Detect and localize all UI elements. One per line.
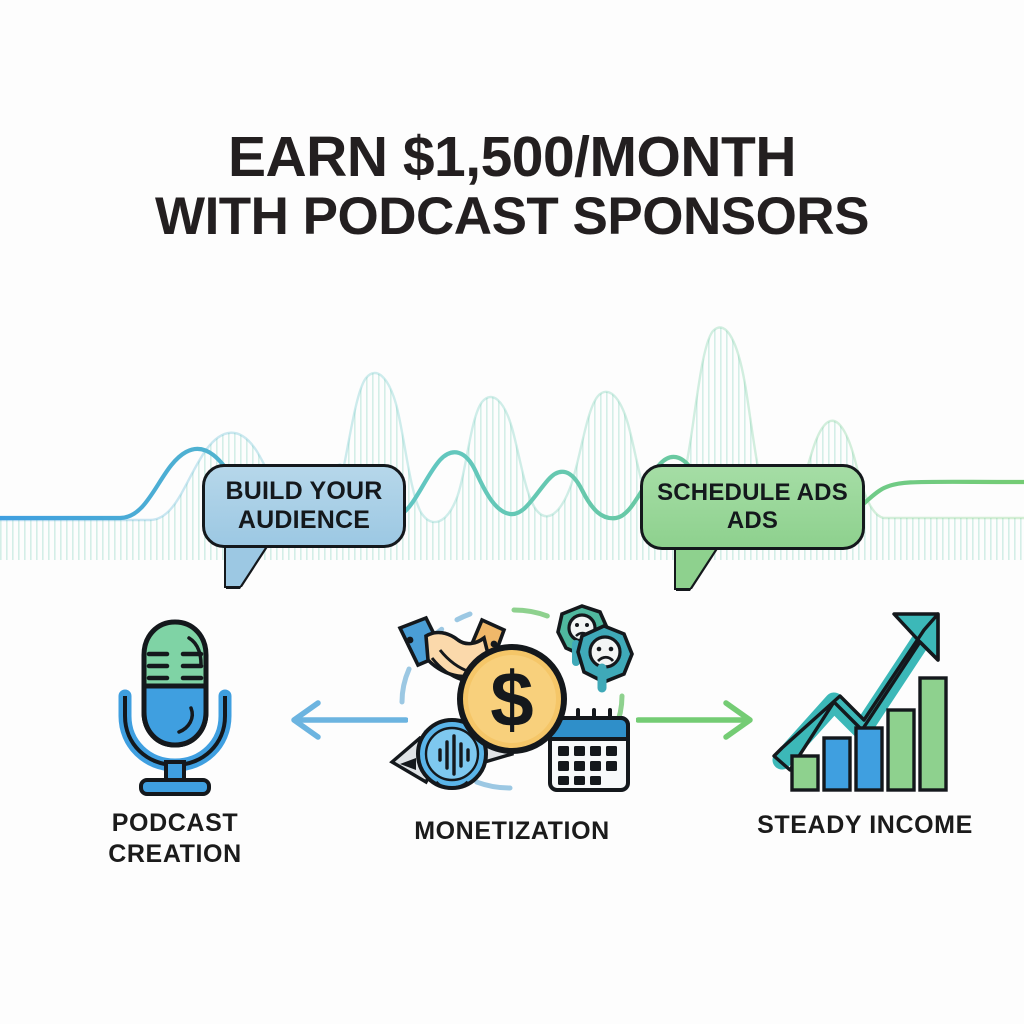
bar-2 — [824, 738, 850, 790]
bubble-audience-line-1: BUILD YOUR — [225, 477, 382, 507]
audience-bubble-tail — [226, 546, 266, 586]
bubble-audience-line-2: AUDIENCE — [238, 506, 370, 536]
monetization-label-line-1: MONETIZATION — [414, 816, 610, 847]
node-steady-income[interactable]: STEADY INCOME — [740, 600, 990, 841]
bar-5 — [920, 678, 946, 790]
steady-income-label-line-1: STEADY INCOME — [757, 810, 973, 841]
audio-waveform-background — [0, 300, 1024, 560]
waveform-svg — [0, 300, 1024, 560]
ads-bubble-tail — [676, 548, 716, 588]
bar-3 — [856, 728, 882, 790]
title-line-1: EARN $1,500/MONTH — [0, 128, 1024, 186]
bar-1 — [792, 756, 818, 790]
bubble-schedule-ads[interactable]: SCHEDULE ADS ADS — [640, 464, 865, 550]
bubble-build-your-audience[interactable]: BUILD YOUR AUDIENCE — [202, 464, 406, 548]
bubble-ads-line-1: SCHEDULE ADS — [657, 479, 848, 507]
title-line-2: WITH PODCAST SPONSORS — [0, 190, 1024, 244]
node-podcast-creation-label: PODCAST CREATION — [108, 808, 242, 869]
audience-people-icon — [558, 606, 632, 688]
podcast-creation-label-line-1: PODCAST — [108, 808, 242, 839]
monetization-cluster-icon: $ — [386, 592, 638, 806]
growth-chart-icon — [770, 600, 960, 800]
bar-4 — [888, 710, 914, 790]
node-monetization[interactable]: $ MONETIZATION — [382, 592, 642, 847]
microphone-icon — [109, 612, 241, 798]
node-podcast-creation[interactable]: PODCAST CREATION — [60, 612, 290, 869]
podcast-creation-label-line-2: CREATION — [108, 839, 242, 870]
node-steady-income-label: STEADY INCOME — [757, 810, 973, 841]
bubble-ads-line-2: ADS — [727, 507, 778, 535]
page-title: EARN $1,500/MONTH WITH PODCAST SPONSORS — [0, 128, 1024, 244]
infographic-canvas: EARN $1,500/MONTH WITH PODCAST SPONSORS — [0, 0, 1024, 1024]
dollar-coin-icon: $ — [460, 647, 564, 751]
node-monetization-label: MONETIZATION — [414, 816, 610, 847]
svg-text:$: $ — [490, 655, 533, 743]
